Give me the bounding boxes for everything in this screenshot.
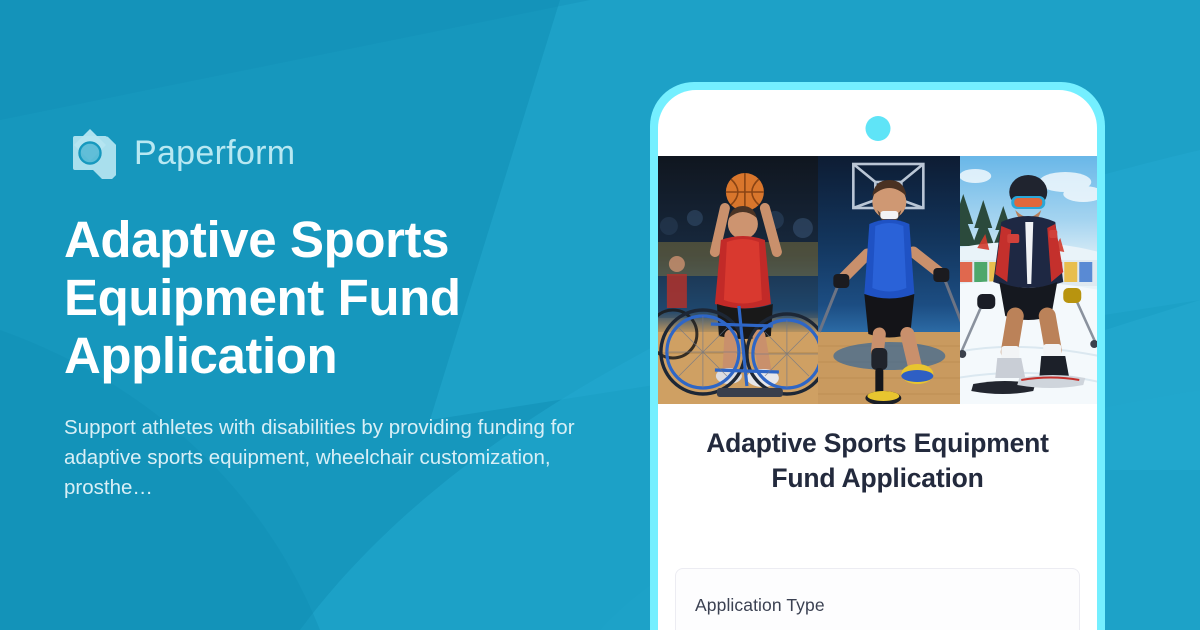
- phone-mockup: Adaptive Sports Equipment Fund Applicati…: [650, 82, 1105, 630]
- background-right-highlight: [1105, 300, 1200, 470]
- page-subtitle: Support athletes with disabilities by pr…: [64, 413, 584, 503]
- share-card-canvas: Paperform Adaptive Sports Equipment Fund…: [0, 0, 1200, 630]
- wheelchair-basketball-photo: [658, 156, 818, 404]
- application-type-label: Application Type: [695, 595, 1079, 616]
- brand-lockup: Paperform: [64, 127, 664, 179]
- prosthetic-runner-photo: [818, 156, 961, 404]
- form-hero-image-strip: [658, 156, 1097, 404]
- page-title: Adaptive Sports Equipment Fund Applicati…: [64, 211, 534, 385]
- phone-screen: Adaptive Sports Equipment Fund Applicati…: [658, 90, 1097, 630]
- application-type-field[interactable]: Application Type: [675, 568, 1080, 630]
- brand-name: Paperform: [134, 136, 295, 170]
- left-content-column: Paperform Adaptive Sports Equipment Fund…: [64, 0, 664, 630]
- form-title: Adaptive Sports Equipment Fund Applicati…: [658, 426, 1097, 496]
- paperform-logo-icon: [64, 127, 116, 179]
- adaptive-skier-photo: [960, 156, 1097, 404]
- camera-dot-icon: [865, 116, 890, 141]
